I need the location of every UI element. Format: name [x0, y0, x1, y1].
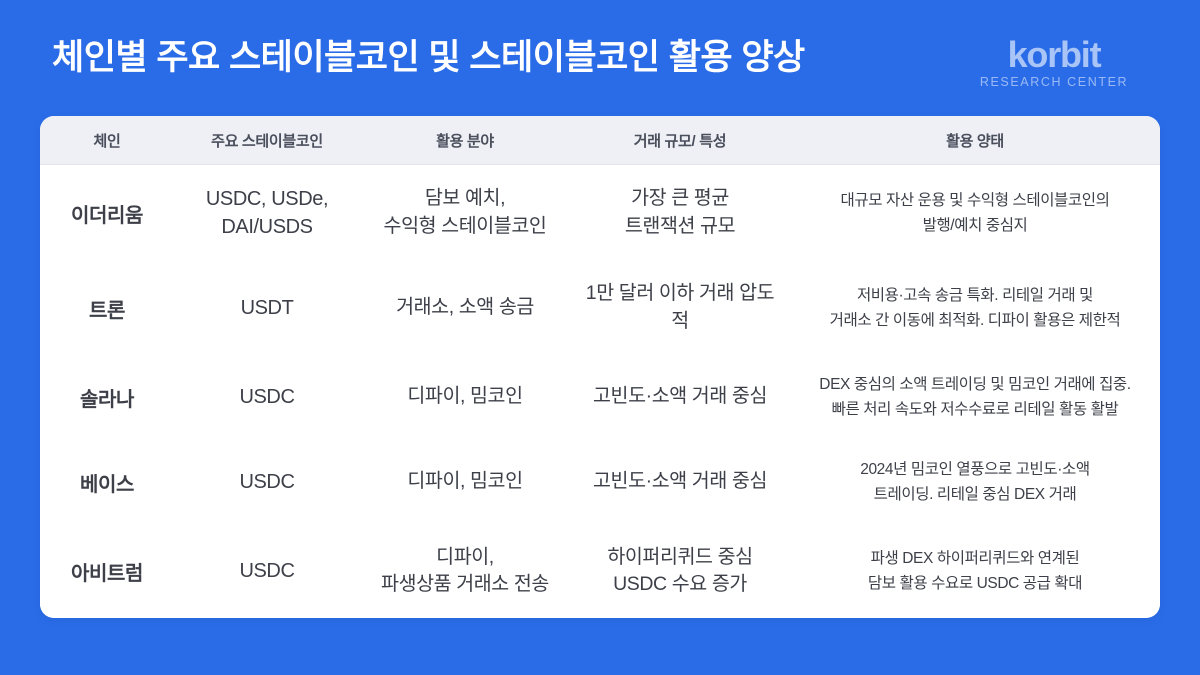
cell-coin: USDC, USDe, DAI/USDS: [174, 165, 360, 262]
cell-usage: 디파이, 밈코인: [360, 440, 570, 525]
cell-pattern: 저비용·고속 송금 특화. 리테일 거래 및 거래소 간 이동에 최적화. 디파…: [790, 261, 1160, 355]
table-card: 체인 주요 스테이블코인 활용 분야 거래 규모/ 특성 활용 양태 이더리움 …: [40, 116, 1160, 618]
cell-chain: 아비트럼: [40, 524, 174, 618]
cell-chain: 트론: [40, 261, 174, 355]
cell-line: 담보 예치,: [368, 185, 562, 213]
cell-line: 2024년 밈코인 열풍으로 고빈도·소액: [798, 457, 1152, 482]
cell-scale: 고빈도·소액 거래 중심: [570, 440, 790, 525]
cell-line: 거래소 간 이동에 최적화. 디파이 활용은 제한적: [798, 308, 1152, 333]
column-header-chain: 체인: [40, 116, 174, 165]
column-header-scale: 거래 규모/ 특성: [570, 116, 790, 165]
column-header-pattern: 활용 양태: [790, 116, 1160, 165]
cell-line: 고빈도·소액 거래 중심: [578, 383, 782, 411]
table-row: 트론 USDT 거래소, 소액 송금 1만 달러 이하 거래 압도적 저비용·고…: [40, 261, 1160, 355]
brand-logo: korbit RESEARCH CENTER: [944, 36, 1164, 90]
cell-line: 파생상품 거래소 전송: [368, 571, 562, 599]
table-header: 체인 주요 스테이블코인 활용 분야 거래 규모/ 특성 활용 양태: [40, 116, 1160, 165]
table-row: 솔라나 USDC 디파이, 밈코인 고빈도·소액 거래 중심 DEX 중심의 소…: [40, 355, 1160, 440]
cell-line: 발행/예치 중심지: [798, 213, 1152, 238]
cell-line: 가장 큰 평균: [578, 185, 782, 213]
cell-pattern: DEX 중심의 소액 트레이딩 및 밈코인 거래에 집중. 빠른 처리 속도와 …: [790, 355, 1160, 440]
cell-line: 트랜잭션 규모: [578, 213, 782, 241]
cell-line: 빠른 처리 속도와 저수수료로 리테일 활동 활발: [798, 397, 1152, 422]
cell-scale: 하이퍼리퀴드 중심 USDC 수요 증가: [570, 524, 790, 618]
table-row: 아비트럼 USDC 디파이, 파생상품 거래소 전송 하이퍼리퀴드 중심 USD…: [40, 524, 1160, 618]
cell-line: 대규모 자산 운용 및 수익형 스테이블코인의: [798, 188, 1152, 213]
cell-line: USDC, USDe,: [182, 185, 352, 213]
page-title: 체인별 주요 스테이블코인 및 스테이블코인 활용 양상: [52, 37, 805, 79]
cell-line: USDC: [182, 383, 352, 411]
cell-scale: 고빈도·소액 거래 중심: [570, 355, 790, 440]
cell-chain: 베이스: [40, 440, 174, 525]
cell-line: DAI/USDS: [182, 213, 352, 241]
brand-subtitle: RESEARCH CENTER: [944, 76, 1164, 90]
cell-line: 1만 달러 이하 거래 압도적: [578, 280, 782, 335]
cell-line: USDT: [182, 294, 352, 322]
cell-scale: 1만 달러 이하 거래 압도적: [570, 261, 790, 355]
cell-line: DEX 중심의 소액 트레이딩 및 밈코인 거래에 집중.: [798, 372, 1152, 397]
cell-line: 담보 활용 수요로 USDC 공급 확대: [798, 571, 1152, 596]
brand-name: korbit: [944, 36, 1164, 74]
cell-chain: 이더리움: [40, 165, 174, 262]
cell-chain: 솔라나: [40, 355, 174, 440]
table-row: 이더리움 USDC, USDe, DAI/USDS 담보 예치, 수익형 스테이…: [40, 165, 1160, 262]
table-row: 베이스 USDC 디파이, 밈코인 고빈도·소액 거래 중심 2024년 밈코인…: [40, 440, 1160, 525]
table-header-row: 체인 주요 스테이블코인 활용 분야 거래 규모/ 특성 활용 양태: [40, 116, 1160, 165]
cell-line: 파생 DEX 하이퍼리퀴드와 연계된: [798, 546, 1152, 571]
cell-line: 트레이딩. 리테일 중심 DEX 거래: [798, 482, 1152, 507]
cell-line: 디파이, 밈코인: [368, 468, 562, 496]
cell-line: USDC 수요 증가: [578, 571, 782, 599]
cell-usage: 담보 예치, 수익형 스테이블코인: [360, 165, 570, 262]
cell-coin: USDC: [174, 524, 360, 618]
column-header-coin: 주요 스테이블코인: [174, 116, 360, 165]
cell-coin: USDC: [174, 440, 360, 525]
cell-usage: 디파이, 밈코인: [360, 355, 570, 440]
slide-header: 체인별 주요 스테이블코인 및 스테이블코인 활용 양상 korbit RESE…: [0, 0, 1200, 118]
stablecoin-table: 체인 주요 스테이블코인 활용 분야 거래 규모/ 특성 활용 양태 이더리움 …: [40, 116, 1160, 618]
cell-line: 저비용·고속 송금 특화. 리테일 거래 및: [798, 283, 1152, 308]
cell-pattern: 파생 DEX 하이퍼리퀴드와 연계된 담보 활용 수요로 USDC 공급 확대: [790, 524, 1160, 618]
cell-usage: 거래소, 소액 송금: [360, 261, 570, 355]
cell-pattern: 2024년 밈코인 열풍으로 고빈도·소액 트레이딩. 리테일 중심 DEX 거…: [790, 440, 1160, 525]
slide-root: 체인별 주요 스테이블코인 및 스테이블코인 활용 양상 korbit RESE…: [0, 0, 1200, 675]
cell-pattern: 대규모 자산 운용 및 수익형 스테이블코인의 발행/예치 중심지: [790, 165, 1160, 262]
cell-line: 디파이, 밈코인: [368, 383, 562, 411]
cell-line: 디파이,: [368, 544, 562, 572]
cell-coin: USDT: [174, 261, 360, 355]
cell-coin: USDC: [174, 355, 360, 440]
cell-line: 고빈도·소액 거래 중심: [578, 468, 782, 496]
column-header-usage: 활용 분야: [360, 116, 570, 165]
cell-line: 수익형 스테이블코인: [368, 213, 562, 241]
cell-line: 하이퍼리퀴드 중심: [578, 544, 782, 572]
cell-line: USDC: [182, 557, 352, 585]
cell-line: 거래소, 소액 송금: [368, 294, 562, 322]
cell-usage: 디파이, 파생상품 거래소 전송: [360, 524, 570, 618]
cell-scale: 가장 큰 평균 트랜잭션 규모: [570, 165, 790, 262]
table-body: 이더리움 USDC, USDe, DAI/USDS 담보 예치, 수익형 스테이…: [40, 165, 1160, 619]
cell-line: USDC: [182, 468, 352, 496]
